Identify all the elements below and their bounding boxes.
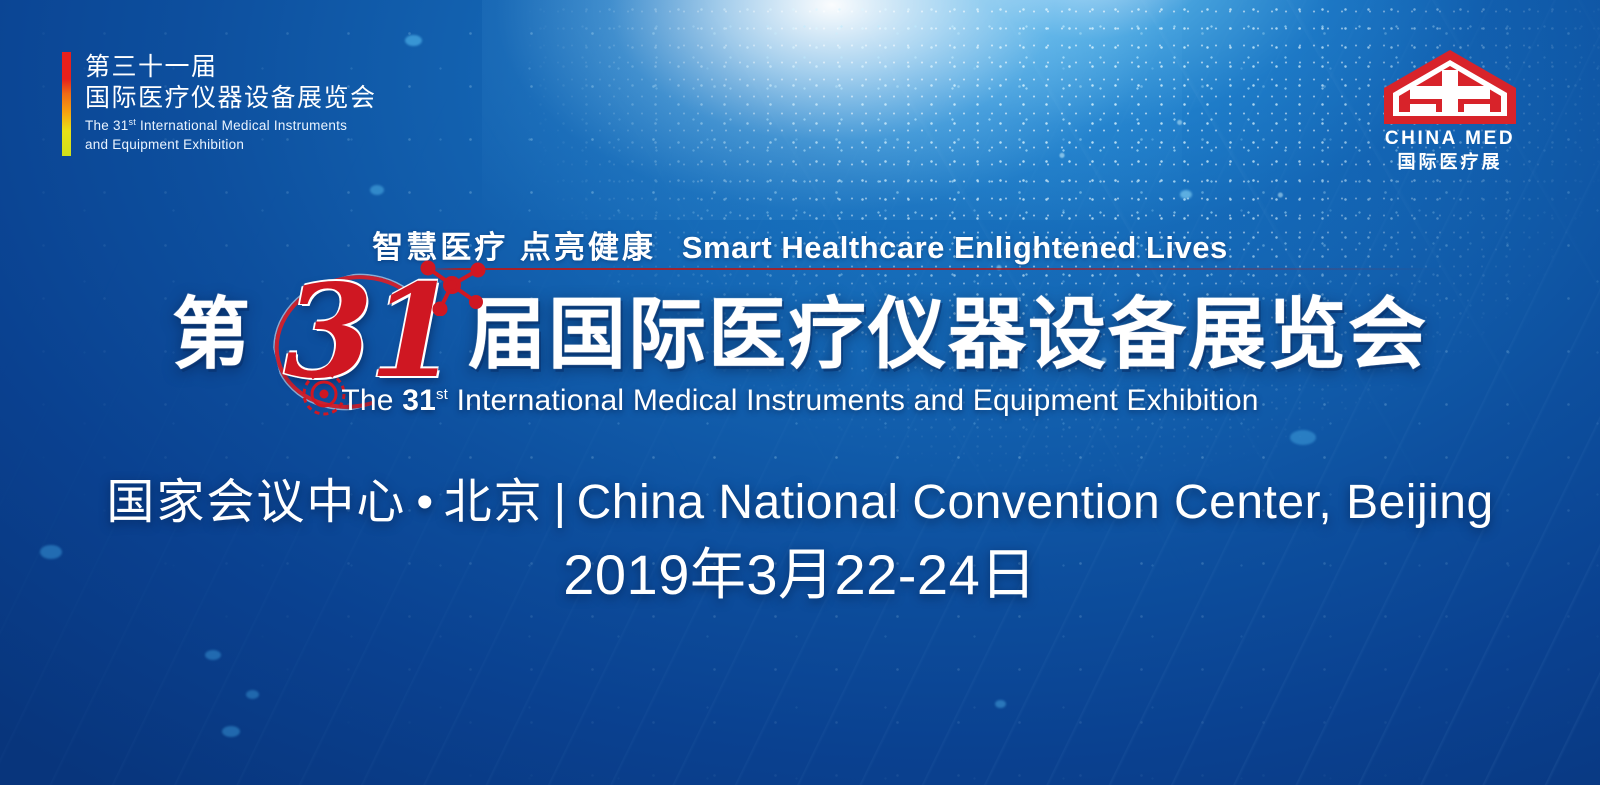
- header-left-lockup: 第三十一届 国际医疗仪器设备展览会 The 31st International…: [62, 52, 377, 156]
- header-en-post: International Medical Instruments: [136, 118, 347, 133]
- header-en-pre: The 31: [85, 118, 129, 133]
- main-title-cn-prefix: 第: [172, 290, 252, 378]
- header-en-sup: st: [129, 117, 137, 127]
- bokeh-dot: [1290, 430, 1316, 445]
- event-date: 2019年3月22-24日: [0, 530, 1600, 611]
- venue-bar-separator: |: [544, 476, 577, 529]
- bokeh-dot: [370, 185, 384, 195]
- main-title-en-sup: st: [436, 386, 448, 403]
- red-hairline-divider: [430, 268, 1440, 270]
- main-title-en-number: 31: [402, 384, 436, 417]
- tagline: 智慧医疗 点亮健康Smart Healthcare Enlightened Li…: [0, 222, 1600, 267]
- gradient-accent-bar: [62, 52, 71, 156]
- venue-city-cn: 北京: [444, 476, 544, 529]
- event-banner: 第三十一届 国际医疗仪器设备展览会 The 31st International…: [0, 0, 1600, 785]
- header-left-text: 第三十一届 国际医疗仪器设备展览会 The 31st International…: [85, 52, 377, 156]
- bokeh-dot: [205, 650, 221, 660]
- main-title-en-pre: The: [341, 384, 402, 417]
- venue-line: 国家会议中心•北京|China National Convention Cent…: [0, 462, 1600, 532]
- molecule-atom-ornament-icon: [418, 254, 486, 316]
- bokeh-dot: [1180, 190, 1192, 199]
- logo-text-en: CHINA MED: [1372, 129, 1528, 150]
- tagline-en: Smart Healthcare Enlightened Lives: [682, 230, 1228, 265]
- bokeh-dot: [405, 35, 422, 46]
- bokeh-dot: [222, 726, 240, 737]
- main-title-en: The 31st International Medical Instrumen…: [0, 384, 1600, 418]
- header-edition-cn: 第三十一届: [85, 52, 377, 83]
- venue-cn: 国家会议中心: [106, 476, 406, 529]
- main-title-block: 第届国际医疗仪器设备展览会 31: [0, 288, 1600, 420]
- bokeh-dot: [995, 700, 1006, 708]
- main-title-cn-suffix: 届国际医疗仪器设备展览会: [468, 290, 1428, 378]
- header-name-en-line2: and Equipment Exhibition: [85, 135, 377, 154]
- logo-text-cn: 国际医疗展: [1372, 152, 1528, 173]
- header-name-cn: 国际医疗仪器设备展览会: [85, 83, 377, 114]
- main-title-cn: 第届国际医疗仪器设备展览会: [0, 288, 1600, 380]
- venue-en: China National Convention Center, Beijin…: [577, 476, 1494, 529]
- header-name-en-line1: The 31st International Medical Instrumen…: [85, 116, 377, 135]
- venue-dot-separator: •: [406, 476, 443, 529]
- china-med-house-cross-logo-icon: [1379, 48, 1521, 126]
- main-title-en-post: International Medical Instruments and Eq…: [448, 384, 1259, 417]
- bokeh-dot: [246, 690, 259, 699]
- china-med-logo-block: CHINA MED 国际医疗展: [1372, 48, 1528, 173]
